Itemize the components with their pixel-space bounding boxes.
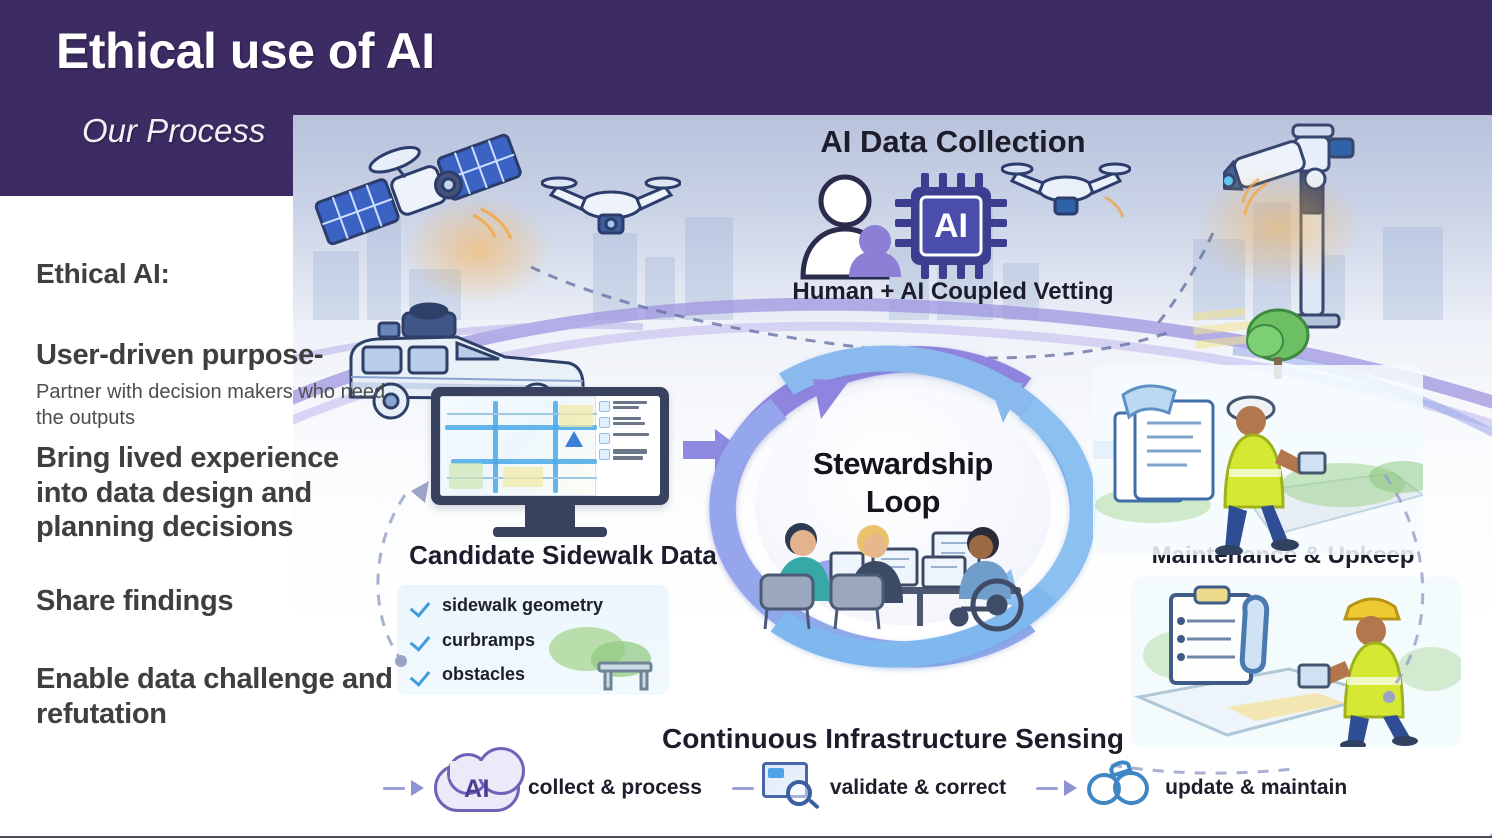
monitor-list-item	[599, 417, 657, 428]
camera-glow	[1193, 167, 1363, 287]
monitor-list-item	[599, 433, 657, 444]
checkbox-icon	[599, 449, 610, 460]
point-detail-1: Partner with decision makers who need th…	[36, 380, 396, 431]
monitor-list-item	[599, 401, 657, 412]
monitor-frame	[431, 387, 669, 505]
check-icon	[411, 597, 429, 615]
inspection-worker-scene	[1131, 577, 1461, 747]
check-icon	[411, 666, 429, 684]
satellite-glow	[403, 195, 553, 305]
point-heading-4: Enable data challenge and refutation	[36, 662, 396, 730]
point-heading-2: Bring lived experience into data design …	[36, 441, 396, 544]
human-ai-vetting-label: Human + AI Coupled Vetting	[723, 277, 1183, 307]
process-step-validate: validate & correct	[760, 760, 1006, 816]
checklist-item-label: obstacles	[442, 664, 525, 685]
point-heading-3: Share findings	[36, 584, 396, 618]
drone-icon-left	[541, 157, 681, 247]
checkbox-icon	[599, 401, 610, 412]
continuous-sensing-label: Continuous Infrastructure Sensing	[593, 723, 1193, 755]
loop-label-line1: Stewardship	[813, 446, 993, 481]
ai-cloud-icon: AI	[434, 764, 520, 812]
slide-canvas: AI AI	[0, 0, 1492, 838]
check-icon	[411, 631, 429, 649]
checklist-item-label: curbramps	[442, 630, 535, 651]
monitor-sidebar	[596, 396, 660, 496]
return-arrow-icon	[1408, 815, 1492, 838]
process-step-label: update & maintain	[1165, 776, 1347, 800]
update-maintain-icon	[1087, 763, 1157, 813]
ai-data-collection-label: AI Data Collection	[748, 124, 1158, 160]
ethical-ai-lead: Ethical AI:	[36, 258, 396, 290]
process-step-label: validate & correct	[830, 776, 1006, 800]
monitor-list-item	[599, 449, 657, 462]
stewardship-loop-label: Stewardship Loop	[755, 445, 1051, 521]
monitor-base	[493, 527, 607, 537]
ai-cloud-label: AI	[464, 775, 490, 804]
community-meeting-scene	[745, 513, 1055, 633]
monitor-neck	[525, 505, 575, 527]
maintenance-worker-scene	[1093, 365, 1423, 555]
process-step-label: collect & process	[528, 776, 702, 800]
dash-segment	[732, 787, 754, 790]
human-plus-ai-icon: AI	[793, 167, 1023, 283]
process-steps-strip: AI collect & process validate & correct	[383, 753, 1443, 823]
checklist-item: sidewalk geometry	[411, 595, 655, 616]
dash-segment	[1036, 787, 1058, 790]
process-step-collect: AI collect & process	[434, 764, 702, 812]
slide-title: Ethical use of AI	[56, 22, 435, 80]
process-step-update: update & maintain	[1087, 763, 1347, 813]
svg-text:AI: AI	[934, 207, 968, 245]
slide-subtitle: Our Process	[82, 112, 265, 150]
process-illustration: AI AI	[293, 115, 1492, 838]
validate-magnifier-icon	[760, 760, 822, 816]
point-heading-1: User-driven purpose-	[36, 338, 396, 372]
roadside-foliage-icon	[543, 615, 683, 695]
checkbox-icon	[599, 417, 610, 428]
checkbox-icon	[599, 433, 610, 444]
candidate-data-monitor	[431, 387, 689, 547]
map-preview	[440, 396, 596, 496]
dash-segment	[383, 787, 405, 790]
arrow-icon	[411, 780, 424, 796]
monitor-screen	[440, 396, 660, 496]
ethical-ai-text-column: Ethical AI: User-driven purpose- Partner…	[36, 258, 396, 731]
arrow-icon	[1064, 780, 1077, 796]
checklist-item-label: sidewalk geometry	[442, 595, 603, 616]
